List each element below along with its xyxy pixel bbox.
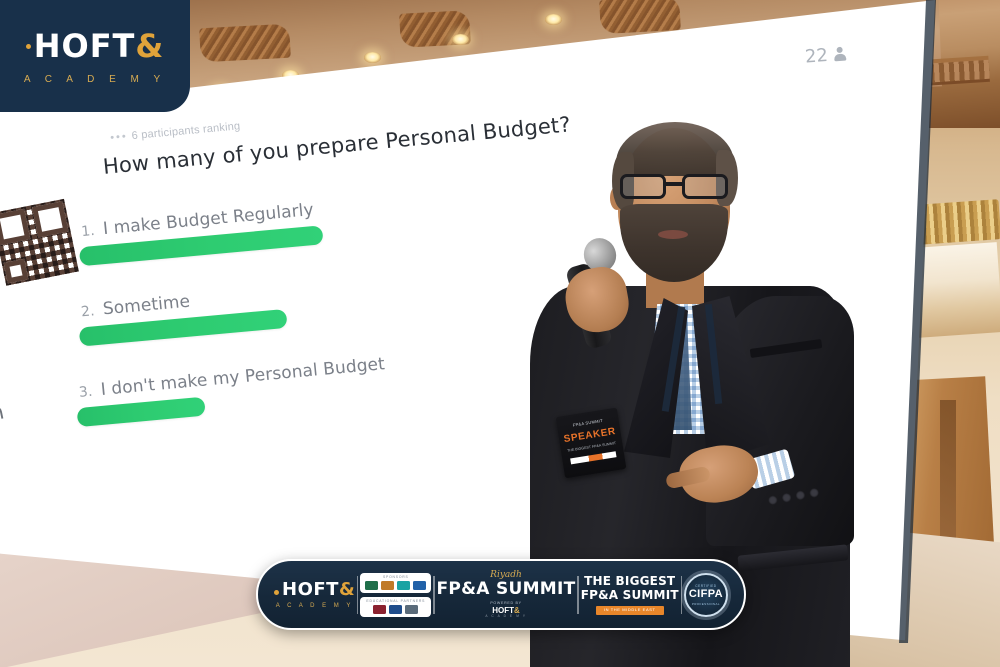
poll-meta-label: 6 participants ranking	[131, 120, 241, 142]
menu-dots-icon[interactable]: •••	[110, 131, 129, 145]
ceiling-ornament	[599, 0, 681, 34]
sponsor-logo-chip	[381, 581, 394, 590]
banner-hoft-wordmark: HOFT&	[274, 581, 355, 599]
poll-option-text: Sometime	[102, 292, 191, 320]
partner-logo-chip	[389, 605, 402, 614]
participant-counter: 22	[804, 43, 847, 67]
speaker-badge: FP&A SUMMIT SPEAKER THE BIGGEST FP&A SUM…	[556, 408, 627, 479]
conference-photo: 22 at om 87 •••6 participants ranking Ho…	[0, 0, 1000, 667]
badge-stripe	[570, 452, 616, 465]
cifpa-name: CIFPA	[689, 588, 723, 600]
ceiling-light-icon	[545, 14, 562, 25]
speaker-beard	[620, 204, 728, 282]
watermark-brand: HOFT	[34, 27, 136, 65]
ceiling-light-icon	[364, 52, 381, 63]
tagline-line-2: FP&A SUMMIT	[581, 588, 679, 602]
poll-question: How many of you prepare Personal Budget?	[102, 112, 572, 178]
banner-divider	[433, 576, 435, 614]
eyeglasses-icon	[620, 174, 732, 200]
banner-divider	[681, 576, 683, 614]
poll-option-label: 3.I don't make my Personal Budget	[78, 354, 386, 402]
poll-option-number: 2.	[80, 302, 103, 320]
banner-hoft-logo: HOFT& A C A D E M Y	[274, 581, 355, 609]
banner-hoft-sub: A C A D E M Y	[276, 603, 354, 609]
banner-hoft-name: HOFT	[282, 579, 339, 600]
poll-option-text: I don't make my Personal Budget	[100, 354, 386, 400]
qr-code-icon	[0, 199, 79, 286]
watermark-amp: &	[135, 27, 164, 65]
poll-option: 1.I make Budget Regularly	[80, 199, 323, 266]
tagline-line-1: THE BIGGEST	[584, 574, 675, 588]
banner-divider	[577, 576, 579, 614]
sponsor-logo-chip	[397, 581, 410, 590]
tagline-badge: IN THE MIDDLE EAST	[596, 606, 664, 615]
badge-event-label: FP&A SUMMIT	[572, 418, 603, 428]
banner-hoft-amp: &	[339, 579, 355, 600]
poll-option-number: 3.	[78, 383, 101, 401]
speaker-mouth	[658, 230, 688, 239]
education-partners-caption: EDUCATIONAL PARTNERS	[366, 599, 425, 603]
sponsors-card: SPONSORS	[360, 573, 431, 593]
sponsor-banner: HOFT& A C A D E M Y SPONSORS EDUCATIONAL…	[256, 559, 746, 630]
poll-option: 3.I don't make my Personal Budget	[78, 354, 388, 427]
cifpa-seal: CERTIFIED CIFPA PROFESSIONAL	[684, 573, 728, 617]
ceiling-light-icon	[452, 34, 469, 45]
banner-divider	[357, 576, 359, 614]
partners-chip-row	[373, 605, 418, 614]
summit-logo: Riyadh FP&A SUMMIT POWERED BY HOFT& A C …	[436, 571, 575, 618]
logo-dot-icon	[274, 590, 279, 595]
sponsor-logo-chip	[365, 581, 378, 590]
biggest-summit-tagline: THE BIGGEST FP&A SUMMIT IN THE MIDDLE EA…	[581, 574, 679, 615]
poll-option: 2.Sometime	[80, 283, 288, 346]
sponsors-chip-row	[365, 581, 426, 590]
poll-option-bar	[76, 397, 205, 428]
watermark-wordmark: HOFT&	[26, 27, 165, 65]
summit-title: FP&A SUMMIT	[436, 581, 575, 598]
education-partners-card: EDUCATIONAL PARTNERS	[360, 597, 431, 617]
watermark-sub: A C A D E M Y	[24, 74, 166, 85]
summit-powered-sub: A C A D E M Y	[485, 615, 526, 618]
person-icon	[833, 46, 847, 62]
sponsor-logo-chip	[413, 581, 426, 590]
logo-dot-icon	[26, 44, 31, 49]
poll-option-number: 1.	[81, 222, 104, 240]
ceiling-ornament	[199, 24, 291, 63]
partner-logo-chip	[373, 605, 386, 614]
cifpa-bottom-label: PROFESSIONAL	[692, 602, 720, 606]
partner-logo-chip	[405, 605, 418, 614]
poll-meta: •••6 participants ranking	[110, 120, 241, 144]
sponsors-caption: SPONSORS	[383, 575, 409, 579]
participant-count: 22	[804, 45, 828, 68]
sponsor-logos: SPONSORS EDUCATIONAL PARTNERS	[360, 573, 431, 617]
hoft-academy-watermark: HOFT& A C A D E M Y	[0, 0, 190, 112]
